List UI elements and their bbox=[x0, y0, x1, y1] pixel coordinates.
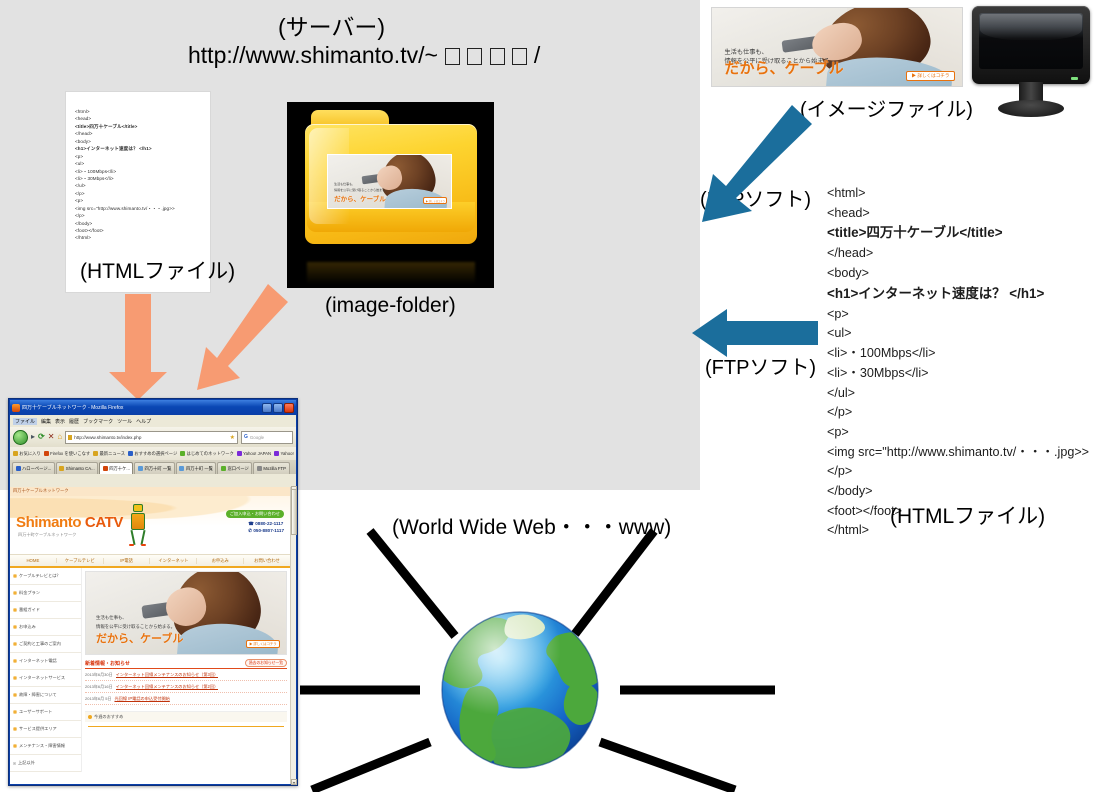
page-main-column: 生活も仕事も、 情報を公平に受け取ることから始まる。 だから、ケーブル ▶ 詳し… bbox=[82, 568, 290, 772]
mascot-body bbox=[131, 513, 145, 530]
site-nav-item[interactable]: IP電話 bbox=[104, 558, 151, 564]
menu-item[interactable]: ツール bbox=[117, 418, 132, 425]
mascot-icon bbox=[128, 504, 148, 548]
missing-glyph-box-icon bbox=[490, 48, 505, 65]
globe-icon bbox=[433, 612, 610, 776]
bookmark-item[interactable]: 最新ニュース bbox=[93, 451, 125, 457]
bookmark-favicon-icon bbox=[13, 451, 18, 456]
sidebar-menu-label: 番組ガイド bbox=[19, 607, 40, 613]
back-button-icon[interactable] bbox=[13, 430, 28, 445]
scroll-down-arrow-icon[interactable]: ▾ bbox=[291, 779, 297, 785]
site-sidebar-menu[interactable]: ケーブルテレビとは？料金プラン番組ガイドお申込みご契約と工事のご案内インターネッ… bbox=[10, 568, 82, 772]
page-notice-bar: 四万十ケーブルネットワーク bbox=[10, 487, 290, 496]
browser-tab[interactable]: 窓口ページ bbox=[217, 462, 252, 474]
code-line: </ul> bbox=[827, 384, 1089, 404]
scrollbar-thumb[interactable] bbox=[291, 489, 297, 535]
tab-label: 四万十町 一覧 bbox=[144, 466, 171, 472]
code-line: </p> bbox=[827, 403, 1089, 423]
monitor-glare bbox=[980, 14, 1082, 40]
sidebar-menu-item-other[interactable]: 上記以外 bbox=[10, 755, 81, 772]
bookmark-favicon-icon bbox=[274, 451, 279, 456]
bookmark-item[interactable]: Firefox を使いこなす bbox=[44, 451, 90, 457]
firefox-favicon-icon bbox=[12, 404, 20, 412]
address-bar[interactable]: http://www.shimanto.tv/index.php ★ bbox=[65, 431, 238, 444]
bullet-icon bbox=[13, 608, 17, 612]
news-header: 新着情報・お知らせ 過去のお知らせ一覧 bbox=[85, 659, 287, 669]
code-line: <p> bbox=[827, 423, 1089, 443]
code-line: </body> bbox=[75, 220, 206, 227]
tab-favicon-icon bbox=[16, 466, 21, 471]
sidebar-menu-label: ユーザーサポート bbox=[19, 709, 52, 715]
bookmark-label: 最新ニュース bbox=[99, 451, 125, 457]
code-line: <ul> bbox=[75, 160, 206, 167]
tab-favicon-icon bbox=[138, 466, 143, 471]
code-line: <img src="http://www.shimanto.tv/・・・.jpg… bbox=[75, 205, 206, 212]
ftp-software-label-upload: (FTPソフト) bbox=[700, 183, 811, 212]
sidebar-menu-item[interactable]: インターネットサービス bbox=[10, 670, 81, 687]
image-folder-icon: 生活も仕事も、 情報を公平に受け取ることから始まる。 だから、ケーブル ▶ 詳し… bbox=[287, 102, 494, 288]
footer-divider bbox=[88, 726, 284, 727]
tab-label: 四万十ケ... bbox=[109, 466, 130, 472]
news-row[interactable]: 2013年6月16日インターネット回線メンテナンスのお知らせ（第2回） bbox=[85, 681, 287, 693]
bullet-icon bbox=[13, 625, 17, 629]
code-line: <li>・30Mbps</li> bbox=[827, 364, 1089, 384]
code-line: <ul> bbox=[827, 324, 1089, 344]
html-source-listing: <html><head><title>四万十ケーブル</title></head… bbox=[827, 184, 1089, 541]
folder-graphic: 生活も仕事も、 情報を公平に受け取ることから始まる。 だから、ケーブル ▶ 詳し… bbox=[305, 110, 477, 262]
page-body: ケーブルテレビとは？料金プラン番組ガイドお申込みご契約と工事のご案内インターネッ… bbox=[10, 568, 290, 772]
bookmarks-toolbar[interactable]: お気に入りFirefox を使いこなす最新ニュースおすすめの選択ページはじめての… bbox=[10, 447, 296, 460]
site-logo-text: Shimanto bbox=[16, 514, 85, 531]
tab-strip[interactable]: ハローページ...Shimanto CA...四万十ケ...四万十町 一覧四万十… bbox=[10, 460, 296, 474]
sidebar-menu-item[interactable]: インターネット電話 bbox=[10, 653, 81, 670]
bookmark-favicon-icon bbox=[180, 451, 185, 456]
bullet-icon bbox=[13, 676, 17, 680]
tab-label: 四万十町 一覧 bbox=[186, 466, 213, 472]
tab-label: Mozilla FTP bbox=[263, 466, 286, 471]
site-nav-item[interactable]: お申込み bbox=[197, 558, 244, 564]
code-line: <head> bbox=[75, 115, 206, 122]
server-url-prefix: http://www.shimanto.tv/~ bbox=[188, 42, 438, 68]
browser-tab[interactable]: ハローページ... bbox=[12, 462, 55, 474]
sidebar-menu-label: インターネットサービス bbox=[19, 675, 65, 681]
site-header: Shimanto CATV 四万十町ケーブルネットワーク ご加入申込・お問い合わ… bbox=[10, 496, 290, 554]
tab-favicon-icon bbox=[221, 466, 226, 471]
code-line: <title>四万十ケーブル</title> bbox=[827, 223, 1089, 244]
site-nav-item[interactable]: インターネット bbox=[150, 558, 197, 564]
banner-slogan: だから、ケーブル bbox=[725, 57, 844, 78]
image-file-label: (イメージファイル) bbox=[800, 93, 973, 122]
sidebar-menu-label: インターネット電話 bbox=[19, 658, 57, 664]
forward-button-icon[interactable]: ▸ bbox=[31, 433, 35, 441]
bullet-icon bbox=[13, 574, 17, 578]
sidebar-menu-item[interactable]: ユーザーサポート bbox=[10, 704, 81, 721]
missing-glyph-box-icon bbox=[467, 48, 482, 65]
sidebar-menu-label: メンテナンス・障害情報 bbox=[19, 743, 65, 749]
code-line: <head> bbox=[827, 204, 1089, 224]
news-section: 新着情報・お知らせ 過去のお知らせ一覧 2013年6月30日インターネット回線メ… bbox=[85, 659, 287, 705]
server-url: http://www.shimanto.tv/~ / bbox=[188, 42, 540, 69]
news-link[interactable]: インターネット回線メンテナンスのお知らせ（第3回） bbox=[116, 672, 219, 678]
bullet-icon bbox=[88, 715, 92, 719]
sidebar-menu-item[interactable]: メンテナンス・障害情報 bbox=[10, 738, 81, 755]
monitor-stand-base bbox=[998, 100, 1064, 117]
bookmark-item[interactable]: お気に入り bbox=[13, 451, 41, 457]
close-button[interactable] bbox=[284, 403, 294, 413]
server-url-suffix: / bbox=[534, 42, 540, 68]
image-file-banner: 生活も仕事も、 情報を公平に受け取ることから始まる。 だから、ケーブル ▶ 詳し… bbox=[711, 7, 963, 87]
web-page-viewport[interactable]: 四万十ケーブルネットワーク Shimanto CATV 四万十町ケーブルネットワ… bbox=[10, 487, 290, 784]
bookmark-label: Firefox を使いこなす bbox=[50, 451, 90, 457]
menu-item[interactable]: ヘルプ bbox=[136, 418, 151, 425]
tab-label: Shimanto CA... bbox=[66, 466, 95, 471]
bookmark-item[interactable]: Yahoo! JAPAN bbox=[237, 451, 271, 456]
folder-thumbnail-banner: 生活も仕事も、 情報を公平に受け取ることから始まる。 だから、ケーブル ▶ 詳し… bbox=[327, 154, 452, 209]
code-line: <foot></foot> bbox=[75, 227, 206, 234]
google-icon: G bbox=[244, 434, 248, 440]
browser-tab[interactable]: Shimanto CA... bbox=[56, 462, 98, 474]
server-label: (サーバー) bbox=[278, 8, 385, 42]
sidebar-menu-label: 料金プラン bbox=[19, 590, 40, 596]
code-line: <p> bbox=[75, 153, 206, 160]
mascot-left-leg bbox=[130, 530, 135, 545]
news-list: 2013年6月30日インターネット回線メンテナンスのお知らせ（第3回）2013年… bbox=[85, 669, 287, 705]
code-line: </html> bbox=[75, 234, 206, 241]
tab-label: 窓口ページ bbox=[227, 466, 248, 472]
bookmark-item[interactable]: Yahoo! bbox=[274, 451, 294, 456]
code-line: <body> bbox=[827, 264, 1089, 284]
search-box[interactable]: G Google bbox=[241, 431, 293, 444]
tab-favicon-icon bbox=[179, 466, 184, 471]
news-archive-link[interactable]: 過去のお知らせ一覧 bbox=[245, 659, 287, 667]
hero-banner: 生活も仕事も、 情報を公平に受け取ることから始まる。 だから、ケーブル ▶ 詳し… bbox=[85, 571, 287, 655]
browser-tab[interactable]: 四万十町 一覧 bbox=[176, 462, 216, 474]
code-line: <html> bbox=[827, 184, 1089, 204]
html-file-label-left: (HTMLファイル) bbox=[80, 255, 235, 285]
mascot-right-foot bbox=[141, 544, 146, 546]
banner-cta-badge: ▶ 詳しくはコチラ bbox=[423, 197, 447, 204]
site-logo[interactable]: Shimanto CATV bbox=[16, 514, 123, 531]
site-nav-item[interactable]: HOME bbox=[10, 558, 57, 563]
maximize-button[interactable] bbox=[273, 403, 283, 413]
news-date: 2013年6月 5日 bbox=[85, 696, 111, 702]
sidebar-menu-label: 故障・障害について bbox=[19, 692, 57, 698]
mascot-right-leg bbox=[140, 530, 145, 545]
phone-number-1: ☎ 0880-22-1117 bbox=[248, 520, 284, 527]
code-line: <li>・100Mbps</li> bbox=[827, 344, 1089, 364]
code-line: <img src="http://www.shimanto.tv/・・・.jpg… bbox=[827, 443, 1089, 463]
site-logo-subtitle: 四万十町ケーブルネットワーク bbox=[18, 532, 76, 538]
minimize-button[interactable] bbox=[262, 403, 272, 413]
sidebar-menu-label: ケーブルテレビとは？ bbox=[19, 573, 61, 579]
code-line: </p> bbox=[75, 212, 206, 219]
ftp-software-label-download: (FTPソフト) bbox=[705, 351, 816, 380]
menu-bar[interactable]: ファイル編集表示履歴ブックマークツールヘルプ bbox=[10, 415, 296, 427]
news-row[interactable]: 2013年6月30日インターネット回線メンテナンスのお知らせ（第3回） bbox=[85, 669, 287, 681]
html-file-label-right: (HTMLファイル) bbox=[890, 500, 1045, 530]
monitor-bezel bbox=[972, 6, 1090, 84]
code-line: </p> bbox=[75, 190, 206, 197]
sidebar-menu-label: サービス提供エリア bbox=[19, 726, 57, 732]
sidebar-menu-item[interactable]: ケーブルテレビとは？ bbox=[10, 568, 81, 585]
code-line: <li>・30Mbps</li> bbox=[75, 175, 206, 182]
banner-cta-badge[interactable]: ▶ 詳しくはコチラ bbox=[246, 640, 280, 649]
sidebar-menu-item[interactable]: お申込み bbox=[10, 619, 81, 636]
tab-favicon-icon bbox=[257, 466, 262, 471]
bookmark-label: おすすめの選択ページ bbox=[134, 451, 177, 457]
code-line: <p> bbox=[827, 305, 1089, 325]
menu-item[interactable]: 編集 bbox=[41, 418, 51, 425]
folder-reflection bbox=[307, 262, 475, 284]
browser-chrome: ファイル編集表示履歴ブックマークツールヘルプ ▸ ⟳ ✕ ⌂ http://ww… bbox=[10, 415, 296, 487]
tab-label: ハローページ... bbox=[22, 466, 51, 472]
bookmark-item[interactable]: はじめてのネットワーク bbox=[180, 451, 234, 457]
site-identity-icon bbox=[68, 435, 72, 440]
bullet-icon bbox=[13, 710, 17, 714]
sidebar-menu-label: お申込み bbox=[19, 624, 36, 630]
code-line: </head> bbox=[75, 130, 206, 137]
code-line: <p> bbox=[75, 197, 206, 204]
contact-badge[interactable]: ご加入申込・お問い合わせ bbox=[226, 510, 284, 518]
banner-cta-badge: ▶ 詳しくはコチラ bbox=[906, 71, 954, 81]
bullet-icon bbox=[13, 744, 17, 748]
code-line: <body> bbox=[75, 138, 206, 145]
bookmark-label: お気に入り bbox=[19, 451, 40, 457]
browser-tab[interactable]: Mozilla FTP bbox=[253, 462, 289, 474]
html-source-listing-small: <html><head><title>四万十ケーブル</title></head… bbox=[75, 108, 206, 242]
footer-highlight-label: 今週のおすすめ bbox=[94, 714, 123, 720]
news-date: 2013年6月16日 bbox=[85, 684, 113, 690]
code-line: <h1>インターネット速度は？ </h1> bbox=[827, 284, 1089, 305]
news-row[interactable]: 2013年6月 5日光回線 IP電話の申込受付開始 bbox=[85, 693, 287, 705]
diagram-canvas: (サーバー) http://www.shimanto.tv/~ / <html>… bbox=[0, 0, 1104, 792]
code-line: </body> bbox=[827, 482, 1089, 502]
menu-item[interactable]: ブックマーク bbox=[83, 418, 113, 425]
sidebar-menu-item[interactable]: 番組ガイド bbox=[10, 602, 81, 619]
code-line: <title>四万十ケーブル</title> bbox=[75, 123, 206, 130]
site-nav-bar[interactable]: HOMEケーブルテレビIP電話インターネットお申込みお問い合わせ bbox=[10, 554, 290, 568]
reload-button-icon[interactable]: ⟳ bbox=[38, 433, 45, 441]
news-date: 2013年6月30日 bbox=[85, 672, 113, 678]
bullet-icon bbox=[13, 727, 17, 731]
footer-highlight-bar[interactable]: 今週のおすすめ bbox=[85, 711, 287, 722]
news-link[interactable]: インターネット回線メンテナンスのお知らせ（第2回） bbox=[116, 684, 219, 690]
menu-item[interactable]: 履歴 bbox=[69, 418, 79, 425]
stop-button-icon[interactable]: ✕ bbox=[48, 433, 55, 441]
browser-window[interactable]: 四万十ケーブルネットワーク - Mozilla Firefox ファイル編集表示… bbox=[8, 398, 298, 786]
code-line: </head> bbox=[827, 244, 1089, 264]
world-wide-web-label: (World Wide Web・・・www) bbox=[392, 511, 671, 541]
bullet-icon bbox=[13, 642, 17, 646]
banner-slogan: だから、ケーブル bbox=[334, 193, 386, 203]
globe-connection-lines bbox=[300, 531, 775, 790]
sidebar-menu-label: 上記以外 bbox=[18, 760, 35, 766]
monitor-power-led-icon bbox=[1071, 77, 1078, 80]
sidebar-menu-label: ご契約と工事のご案内 bbox=[19, 641, 61, 647]
tab-favicon-icon bbox=[59, 466, 64, 471]
mascot-left-foot bbox=[129, 544, 134, 546]
bullet-icon bbox=[13, 762, 16, 765]
banner-caption-line1: 生活も仕事も、 bbox=[725, 49, 768, 57]
code-line: <html> bbox=[75, 108, 206, 115]
site-logo-accent: CATV bbox=[85, 514, 123, 531]
window-controls[interactable] bbox=[262, 403, 294, 413]
vertical-scrollbar[interactable]: ▴ ▾ bbox=[290, 487, 296, 784]
missing-glyph-box-icon bbox=[445, 48, 460, 65]
search-placeholder: Google bbox=[250, 435, 264, 440]
bookmark-favicon-icon bbox=[237, 451, 242, 456]
banner-caption-line1: 生活も仕事も、 bbox=[334, 183, 355, 186]
menu-item[interactable]: ファイル bbox=[13, 418, 37, 425]
site-nav-item[interactable]: お問い合わせ bbox=[244, 558, 290, 564]
sidebar-menu-item[interactable]: 料金プラン bbox=[10, 585, 81, 602]
bookmark-item[interactable]: おすすめの選択ページ bbox=[128, 451, 177, 457]
menu-item[interactable]: 表示 bbox=[55, 418, 65, 425]
bullet-icon bbox=[13, 659, 17, 663]
home-button-icon[interactable]: ⌂ bbox=[57, 433, 62, 441]
news-title: 新着情報・お知らせ bbox=[85, 660, 130, 667]
browser-tab[interactable]: 四万十ケ... bbox=[99, 462, 133, 474]
sidebar-menu-item[interactable]: ご契約と工事のご案内 bbox=[10, 636, 81, 653]
banner-caption-line2: 情報を公平に受け取ることから始まる。 bbox=[334, 189, 388, 192]
browser-tab[interactable]: 四万十町 一覧 bbox=[134, 462, 174, 474]
missing-glyph-box-icon bbox=[512, 48, 527, 65]
image-folder-label: (image-folder) bbox=[325, 294, 456, 318]
code-line: <li>・100Mbps</li> bbox=[75, 168, 206, 175]
banner-slogan: だから、ケーブル bbox=[96, 630, 183, 646]
sidebar-menu-item[interactable]: サービス提供エリア bbox=[10, 721, 81, 738]
bookmark-label: はじめてのネットワーク bbox=[187, 451, 234, 457]
bookmark-favicon-icon bbox=[44, 451, 49, 456]
bookmark-favicon-icon bbox=[128, 451, 133, 456]
mascot-head bbox=[133, 504, 143, 512]
bullet-icon bbox=[13, 591, 17, 595]
phone-numbers: ☎ 0880-22-1117 ✆ 050-8807-1117 bbox=[248, 520, 284, 534]
browser-title-text: 四万十ケーブルネットワーク - Mozilla Firefox bbox=[22, 404, 262, 411]
phone-number-2: ✆ 050-8807-1117 bbox=[248, 527, 284, 534]
code-line: </ul> bbox=[75, 182, 206, 189]
code-line: <h1>インターネット速度は？ </h1> bbox=[75, 145, 206, 152]
bookmark-favicon-icon bbox=[93, 451, 98, 456]
news-link[interactable]: 光回線 IP電話の申込受付開始 bbox=[114, 696, 169, 702]
code-line: </p> bbox=[827, 462, 1089, 482]
bookmark-star-icon[interactable]: ★ bbox=[230, 434, 235, 441]
site-nav-item[interactable]: ケーブルテレビ bbox=[57, 558, 104, 564]
bookmark-label: Yahoo! bbox=[280, 451, 293, 456]
browser-title-bar[interactable]: 四万十ケーブルネットワーク - Mozilla Firefox bbox=[10, 400, 296, 415]
banner-caption-line1: 生活も仕事も、 bbox=[96, 615, 127, 621]
navigation-toolbar[interactable]: ▸ ⟳ ✕ ⌂ http://www.shimanto.tv/index.php… bbox=[10, 427, 296, 447]
bookmark-label: Yahoo! JAPAN bbox=[243, 451, 271, 456]
bullet-icon bbox=[13, 693, 17, 697]
monitor-icon bbox=[972, 6, 1090, 118]
address-bar-url: http://www.shimanto.tv/index.php bbox=[74, 435, 141, 440]
tab-favicon-icon bbox=[103, 466, 108, 471]
sidebar-menu-item[interactable]: 故障・障害について bbox=[10, 687, 81, 704]
